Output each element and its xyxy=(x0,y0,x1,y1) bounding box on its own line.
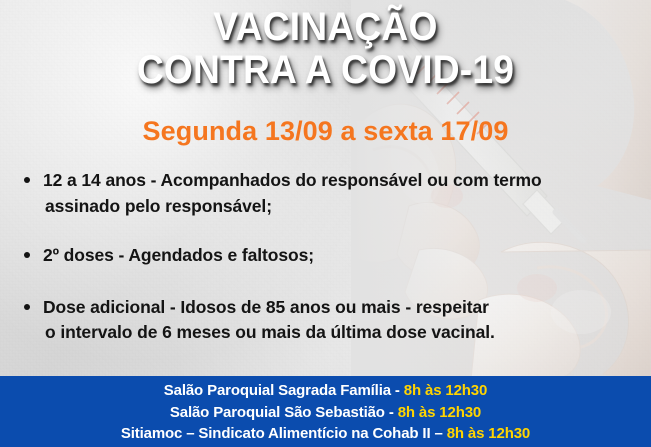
location-row: Salão Paroquial Sagrada Família - 8h às … xyxy=(0,380,651,402)
bullet-dot-icon xyxy=(24,177,30,183)
eligibility-list: 12 a 14 anos - Acompanhados do responsáv… xyxy=(18,168,642,346)
list-item: 12 a 14 anos - Acompanhados do responsáv… xyxy=(18,168,642,219)
bullet-line-2: o intervalo de 6 meses ou mais da última… xyxy=(45,320,642,346)
location-name: Salão Paroquial São Sebastião - xyxy=(170,404,398,421)
date-range-subtitle: Segunda 13/09 a sexta 17/09 xyxy=(0,116,651,146)
location-time: 8h às 12h30 xyxy=(447,425,530,442)
location-row: Salão Paroquial São Sebastião - 8h às 12… xyxy=(0,402,651,424)
bullet-line-2: assinado pelo responsável; xyxy=(45,194,642,220)
bullet-line-1: 12 a 14 anos - Acompanhados do responsáv… xyxy=(43,168,642,194)
location-name: Sitiamoc – Sindicato Alimentício na Coha… xyxy=(121,425,447,442)
bullet-line-1: Dose adicional - Idosos de 85 anos ou ma… xyxy=(43,295,642,321)
bullet-dot-icon xyxy=(24,252,30,258)
title-line-2: CONTRA A COVID-19 xyxy=(23,49,628,92)
location-row: Sitiamoc – Sindicato Alimentício na Coha… xyxy=(0,423,651,445)
bullet-line-1: 2º doses - Agendados e faltosos; xyxy=(43,243,642,269)
vaccination-poster: VACINAÇÃO CONTRA A COVID-19 Segunda 13/0… xyxy=(0,0,651,447)
location-time: 8h às 12h30 xyxy=(398,404,481,421)
bullet-dot-icon xyxy=(24,304,30,310)
list-item: Dose adicional - Idosos de 85 anos ou ma… xyxy=(18,295,642,346)
locations-footer: Salão Paroquial Sagrada Família - 8h às … xyxy=(0,376,651,447)
list-item: 2º doses - Agendados e faltosos; xyxy=(18,243,642,269)
location-time: 8h às 12h30 xyxy=(404,382,487,399)
page-title: VACINAÇÃO CONTRA A COVID-19 xyxy=(23,6,628,92)
location-name: Salão Paroquial Sagrada Família - xyxy=(164,382,404,399)
title-line-1: VACINAÇÃO xyxy=(23,6,628,49)
